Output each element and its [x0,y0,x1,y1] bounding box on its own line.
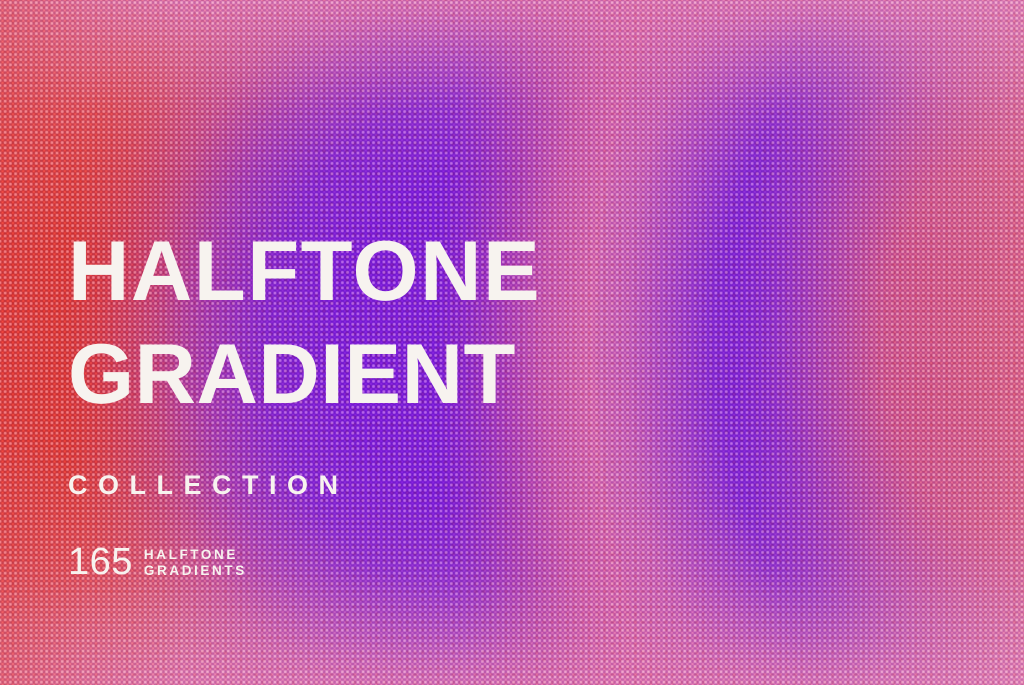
subtitle-collection: COLLECTION [68,426,541,501]
count-label-line-2: GRADIENTS [144,563,247,578]
gradient-count-label: HALFTONE GRADIENTS [144,545,247,579]
count-label-line-1: HALFTONE [144,547,238,562]
headline-line-2: GRADIENT [68,323,541,426]
poster-text-block: HALFTONE GRADIENT COLLECTION 165 HALFTON… [68,220,541,580]
count-row: 165 HALFTONE GRADIENTS [68,501,541,580]
gradient-count-number: 165 [68,544,133,580]
halftone-gradient-poster: HALFTONE GRADIENT COLLECTION 165 HALFTON… [0,0,1024,685]
headline-line-1: HALFTONE [68,220,541,323]
